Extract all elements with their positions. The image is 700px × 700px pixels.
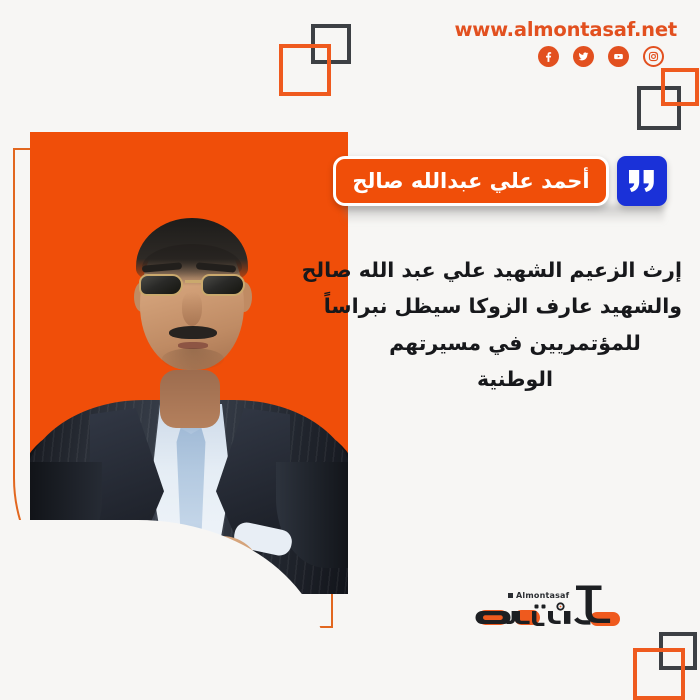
- logo-latin-text: Almontasaf: [508, 591, 569, 600]
- quote-line-1: إرث الزعيم الشهيد علي عبد الله صالح: [348, 252, 682, 288]
- decor-square-pair-top-center: [279, 24, 351, 96]
- sunglasses-lens-right: [201, 274, 245, 296]
- youtube-icon[interactable]: [608, 46, 629, 67]
- speaker-name-banner: أحمد علي عبدالله صالح: [333, 156, 609, 206]
- quote-card: www.almontasaf.net: [0, 0, 700, 700]
- quote-text: إرث الزعيم الشهيد علي عبد الله صالح والش…: [348, 252, 682, 398]
- portrait-nose: [182, 292, 202, 326]
- decor-square-orange: [661, 68, 699, 106]
- portrait-moustache: [169, 326, 217, 339]
- decor-square-orange: [633, 648, 685, 700]
- quotation-mark-icon: [617, 156, 667, 206]
- almontasaf-logo[interactable]: Almontasaf: [472, 580, 632, 642]
- quote-line-4: الوطنية: [348, 361, 682, 397]
- portrait-photo: [30, 132, 348, 594]
- portrait-neck: [160, 370, 220, 428]
- instagram-icon[interactable]: [643, 46, 664, 67]
- social-links: [538, 46, 664, 67]
- portrait-bottom-fade: [30, 568, 348, 594]
- decor-square-pair-bottom-right: [633, 632, 700, 700]
- name-banner-shadow: [344, 205, 664, 223]
- sunglasses-bridge: [185, 280, 203, 283]
- logo-tick-marker: [508, 593, 513, 598]
- sunglasses-lens-left: [139, 274, 183, 296]
- speaker-name: أحمد علي عبدالله صالح: [352, 169, 589, 193]
- logo-latin-label: Almontasaf: [516, 591, 569, 600]
- twitter-icon[interactable]: [573, 46, 594, 67]
- website-url[interactable]: www.almontasaf.net: [454, 18, 677, 41]
- decor-square-orange: [279, 44, 331, 96]
- quote-line-3: للمؤتمريين في مسيرتهم: [348, 325, 682, 361]
- quote-line-2: والشهيد عارف الزوكا سيظل نبراساً: [348, 288, 682, 324]
- portrait-panel: [30, 132, 348, 594]
- facebook-icon[interactable]: [538, 46, 559, 67]
- portrait-chin: [162, 348, 224, 370]
- decor-square-pair-top-right: [637, 68, 699, 130]
